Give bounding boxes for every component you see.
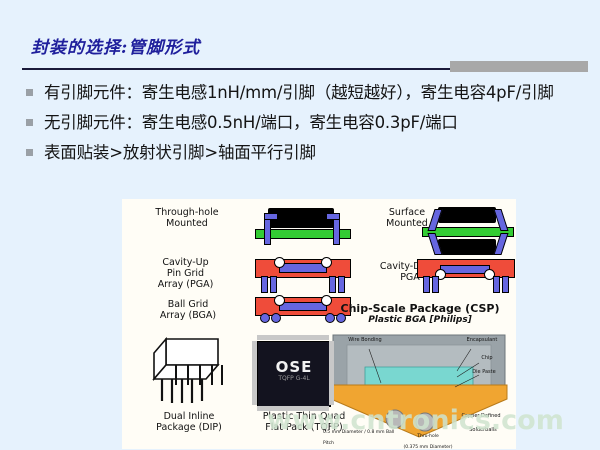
label-dual-inline-package: Dual Inline Package (DIP): [138, 411, 240, 433]
csp-callout-encapsulant: Encapsulant: [455, 335, 509, 346]
component-body-bottom-surface-mount: [438, 239, 496, 255]
solder-ball-1-bga: [260, 313, 270, 323]
dip-body-front: [154, 365, 218, 379]
die-cavity-up-pga: [279, 263, 327, 273]
tqfp-pins-right: [329, 341, 334, 405]
square-bullet-icon: [26, 149, 33, 156]
list-item: 有引脚元件：寄生电感1nH/mm/引脚（越短越好），寄生电容4pF/引脚: [26, 80, 582, 106]
lead-bend-right-through-hole: [326, 213, 340, 220]
component-body-top-surface-mount: [438, 207, 496, 223]
pin-1-cavity-down-pga: [423, 276, 430, 293]
page-title: 封装的选择:管脚形式: [31, 33, 200, 58]
csp-solder-ball-left: [386, 410, 404, 428]
package-types-figure: Through-hole Mounted Surface Mounted Cav…: [122, 199, 516, 449]
pin-4-cavity-up-pga: [338, 276, 345, 293]
wire-bond-left-cavity-up-pga: [274, 257, 285, 268]
die-cavity-down-pga: [440, 265, 490, 274]
pin-2-cavity-down-pga: [432, 276, 439, 293]
bullet-list: 有引脚元件：寄生电感1nH/mm/引脚（越短越好），寄生电容4pF/引脚 无引脚…: [26, 80, 582, 170]
csp-callout-copper-defined: Copper Defined: [455, 411, 507, 422]
dip-package-illustration: [140, 335, 236, 409]
label-chip-scale-package-subtitle: Plastic BGA [Philips]: [329, 315, 511, 326]
tqfp-pins-left: [252, 341, 257, 405]
pin-3-cavity-up-pga: [329, 276, 336, 293]
slide-canvas: 封装的选择:管脚形式 有引脚元件：寄生电感1nH/mm/引脚（越短越好），寄生电…: [0, 0, 600, 450]
label-chip-scale-package-title: Chip-Scale Package (CSP): [329, 303, 511, 314]
bullet-text: 有引脚元件：寄生电感1nH/mm/引脚（越短越好），寄生电容4pF/引脚: [44, 80, 582, 106]
square-bullet-icon: [26, 89, 33, 96]
square-bullet-icon: [26, 119, 33, 126]
list-item: 表面贴装>放射状引脚>轴面平行引脚: [26, 140, 582, 166]
tqfp-package-illustration: OSE TQFP G-4L: [257, 341, 331, 407]
die-bga: [279, 302, 327, 311]
csp-callout-die-paste: Die Paste: [461, 367, 507, 378]
wire-bond-right-cavity-up-pga: [321, 257, 332, 268]
dip-body-top: [166, 339, 218, 365]
csp-callout-chip: Chip: [467, 353, 507, 364]
csp-callout-wire-bonding: Wire Bonding: [337, 335, 393, 346]
lead-bend-left-through-hole: [264, 213, 278, 220]
pin-1-cavity-up-pga: [261, 276, 268, 293]
pin-4-cavity-down-pga: [502, 276, 509, 293]
csp-callout-thru-hole-note: Thru-hole (0.375 mm Diameter): [403, 431, 453, 449]
dip-package-svg: [140, 335, 236, 409]
tqfp-logo-text: OSE: [258, 358, 330, 376]
csp-solder-ball-right: [416, 413, 434, 431]
pin-3-cavity-down-pga: [493, 276, 500, 293]
list-item: 无引脚元件：寄生电感0.5nH/端口，寄生电容0.3pF/端口: [26, 110, 582, 136]
label-ball-grid-array: Ball Grid Array (BGA): [132, 299, 244, 321]
label-cavity-up-pga: Cavity-Up Pin Grid Array (PGA): [128, 257, 243, 290]
pin-2-cavity-up-pga: [270, 276, 277, 293]
bullet-text: 表面贴装>放射状引脚>轴面平行引脚: [44, 140, 582, 166]
dip-pins-front: [162, 379, 202, 403]
wire-bond-left-bga: [274, 295, 285, 306]
tqfp-marking-text: TQFP G-4L: [258, 375, 330, 382]
bullet-text: 无引脚元件：寄生电感0.5nH/端口，寄生电容0.3pF/端口: [44, 110, 582, 136]
label-plastic-thin-quad-flat-pack: Plastic Thin Quad Flat Pack (TQFP): [248, 411, 360, 433]
label-through-hole-mounted: Through-hole Mounted: [132, 207, 242, 229]
title-accent-band: [450, 61, 588, 72]
solder-ball-2-bga: [271, 313, 281, 323]
csp-callout-solderballs: Solderballs: [459, 425, 507, 436]
tqfp-pins-top: [257, 335, 329, 340]
